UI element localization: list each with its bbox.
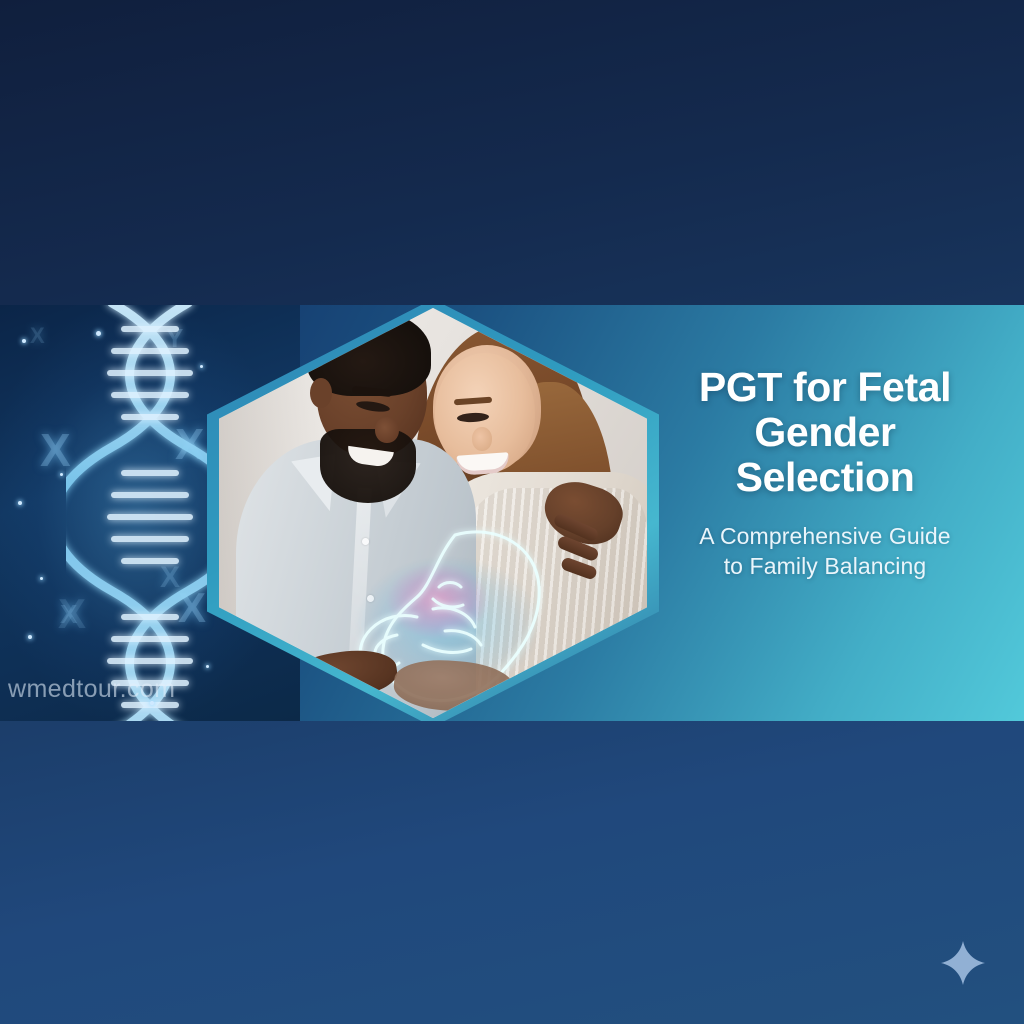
couple-photo <box>219 308 647 718</box>
chromosome-glyph-x: X <box>30 325 45 347</box>
particle-dot <box>96 331 101 336</box>
woman-nose <box>472 427 492 451</box>
hexagon-photo-clip <box>219 308 647 718</box>
hexagon-photo-frame <box>207 305 659 721</box>
title-line-3: Selection <box>736 454 915 500</box>
man-ear <box>310 378 332 408</box>
subtitle-line-1: A Comprehensive Guide <box>699 523 950 549</box>
subtitle-line-2: to Family Balancing <box>724 553 927 579</box>
particle-dot <box>60 473 63 476</box>
banner-text-block: PGT for Fetal Gender Selection A Compreh… <box>655 365 995 582</box>
page-subtitle: A Comprehensive Guide to Family Balancin… <box>655 522 995 582</box>
hero-banner: X X Y X X X X X <box>0 305 1024 721</box>
page-title: PGT for Fetal Gender Selection <box>655 365 995 500</box>
watermark-text: wmedtour.com <box>8 675 175 704</box>
title-line-2: Gender <box>754 409 895 455</box>
particle-dot <box>28 635 32 639</box>
particle-dot <box>22 339 26 343</box>
page-root: X X Y X X X X X <box>0 0 1024 1024</box>
particle-dot <box>200 365 203 368</box>
particle-dot <box>18 501 22 505</box>
sparkle-icon <box>940 940 986 986</box>
man-beard <box>320 429 416 503</box>
man-nose <box>375 417 399 443</box>
title-line-1: PGT for Fetal <box>699 364 951 410</box>
particle-dot <box>40 577 43 580</box>
